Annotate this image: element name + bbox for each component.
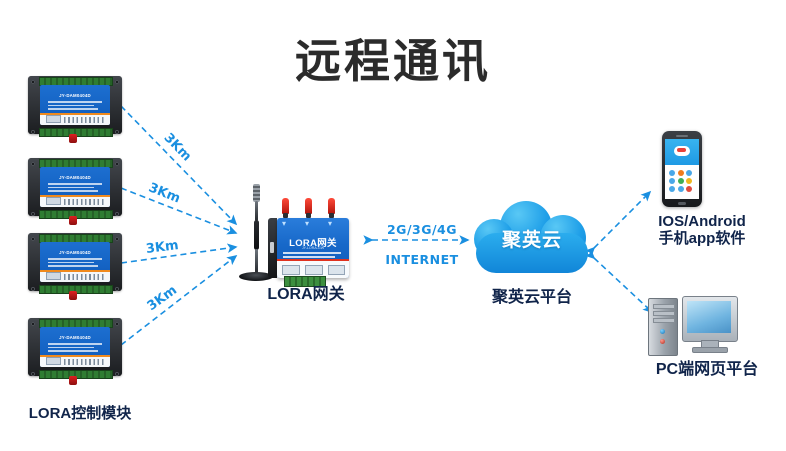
app-cloud-logo-icon bbox=[674, 146, 690, 156]
module-screw bbox=[115, 162, 119, 166]
phone-home-button[interactable] bbox=[678, 202, 686, 205]
module-power-cap bbox=[69, 376, 77, 385]
app-header bbox=[665, 139, 699, 165]
module-panel bbox=[40, 357, 110, 367]
module-screw bbox=[31, 130, 35, 134]
lora-gateway[interactable]: ▾ ▾ ▾ LORA网关 JY-LORA-GW bbox=[268, 198, 350, 280]
smartphone[interactable] bbox=[662, 131, 702, 207]
module-power-cap bbox=[69, 134, 77, 143]
app-icon bbox=[678, 170, 684, 176]
gateway-port-usb bbox=[328, 265, 345, 275]
module-model-label: JY-DAM0404D bbox=[40, 250, 110, 255]
module-panel bbox=[40, 197, 110, 207]
module-screw bbox=[115, 287, 119, 291]
module-indicators bbox=[64, 199, 106, 205]
app-icon-grid bbox=[668, 169, 696, 193]
lora-module-4[interactable]: JY-DAM0404D bbox=[28, 318, 122, 380]
link-module4-gateway bbox=[121, 256, 236, 345]
module-screw bbox=[31, 287, 35, 291]
cloud-caption: 聚英云平台 bbox=[462, 288, 602, 308]
module-indicators bbox=[64, 359, 106, 365]
module-screw bbox=[115, 130, 119, 134]
module-power-cap bbox=[69, 291, 77, 300]
module-lcd bbox=[46, 197, 61, 205]
module-faceplate: JY-DAM0404D bbox=[40, 242, 110, 282]
distance-label-1: 3Km bbox=[161, 131, 194, 165]
gateway-body: ▾ ▾ ▾ LORA网关 JY-LORA-GW bbox=[277, 218, 349, 278]
module-lcd bbox=[46, 357, 61, 365]
gateway-antenna-1 bbox=[282, 198, 289, 214]
module-screw bbox=[115, 322, 119, 326]
module-spec-lines bbox=[48, 258, 102, 269]
module-power-cap bbox=[69, 216, 77, 225]
pc-screen bbox=[687, 301, 731, 333]
module-indicators bbox=[64, 274, 106, 280]
wifi-icon: ▾ bbox=[328, 219, 332, 228]
link-module1-gateway bbox=[121, 106, 236, 224]
module-spec-lines bbox=[48, 343, 102, 354]
app-icon bbox=[669, 170, 675, 176]
app-icon bbox=[669, 186, 675, 192]
gateway-antenna-3 bbox=[328, 198, 335, 214]
module-faceplate: JY-DAM0404D bbox=[40, 327, 110, 367]
module-panel bbox=[40, 115, 110, 125]
app-icon bbox=[678, 178, 684, 184]
module-lcd bbox=[46, 272, 61, 280]
module-faceplate: JY-DAM0404D bbox=[40, 167, 110, 207]
link-cloud-pc bbox=[594, 258, 652, 312]
diagram-canvas: 远程通讯 3Km 3Km 3Km 3Km 2G/3G/4G INTERNET bbox=[0, 0, 786, 451]
app-icon bbox=[678, 186, 684, 192]
gateway-model-sub: JY-LORA-GW bbox=[277, 246, 349, 250]
module-model-label: JY-DAM0404D bbox=[40, 175, 110, 180]
gateway-side-panel bbox=[268, 218, 277, 278]
phone-caption-line2: 手机app软件 bbox=[622, 230, 782, 249]
wifi-icon: ▾ bbox=[282, 219, 286, 228]
module-screw bbox=[31, 212, 35, 216]
gateway-port-sim bbox=[282, 265, 300, 275]
pc-drive-bay bbox=[653, 318, 675, 323]
module-screw bbox=[115, 80, 119, 84]
antenna-rod bbox=[255, 249, 258, 273]
lora-module-1[interactable]: JY-DAM0404D bbox=[28, 76, 122, 138]
pc-monitor-foot bbox=[692, 347, 728, 353]
antenna-grip bbox=[254, 220, 259, 250]
app-icon bbox=[686, 178, 692, 184]
module-model-label: JY-DAM0404D bbox=[40, 335, 110, 340]
app-icon bbox=[686, 186, 692, 192]
distance-label-3: 3Km bbox=[145, 238, 179, 257]
module-spec-lines bbox=[48, 101, 102, 112]
module-screw bbox=[31, 237, 35, 241]
module-indicators bbox=[64, 117, 106, 123]
module-faceplate: JY-DAM0404D bbox=[40, 85, 110, 125]
module-screw bbox=[115, 372, 119, 376]
module-model-label: JY-DAM0404D bbox=[40, 93, 110, 98]
phone-caption-line1: IOS/Android bbox=[622, 213, 782, 232]
module-screw bbox=[31, 372, 35, 376]
phone-speaker bbox=[676, 135, 688, 137]
lora-module-3[interactable]: JY-DAM0404D bbox=[28, 233, 122, 295]
module-screw bbox=[31, 80, 35, 84]
pc-monitor bbox=[682, 296, 738, 342]
pc-drive-bay bbox=[653, 304, 675, 309]
app-icon bbox=[686, 170, 692, 176]
pc-status-led bbox=[660, 339, 665, 344]
module-screw bbox=[115, 212, 119, 216]
lora-modules-caption: LORA控制模块 bbox=[10, 405, 150, 424]
cloud-name-label: 聚英云 bbox=[474, 225, 590, 252]
wifi-icon: ▾ bbox=[305, 219, 309, 228]
network-internet-label: INTERNET bbox=[376, 252, 468, 267]
app-icon bbox=[669, 178, 675, 184]
gateway-port-lan bbox=[305, 265, 323, 275]
gateway-caption: LORA网关 bbox=[236, 285, 376, 305]
pc-tower bbox=[648, 298, 678, 356]
module-panel bbox=[40, 272, 110, 282]
module-screw bbox=[115, 237, 119, 241]
module-screw bbox=[31, 162, 35, 166]
phone-screen bbox=[665, 139, 699, 199]
module-lcd bbox=[46, 115, 61, 123]
network-type-label: 2G/3G/4G bbox=[376, 222, 468, 237]
module-screw bbox=[31, 322, 35, 326]
gateway-antenna-2 bbox=[305, 198, 312, 214]
phone-body bbox=[662, 131, 702, 207]
module-spec-lines bbox=[48, 183, 102, 194]
cloud-platform[interactable]: 聚英云 bbox=[474, 201, 590, 273]
pc-caption: PC端网页平台 bbox=[632, 360, 782, 380]
lora-module-2[interactable]: JY-DAM0404D bbox=[28, 158, 122, 220]
distance-label-4: 3Km bbox=[145, 283, 180, 314]
desktop-computer[interactable] bbox=[648, 296, 760, 360]
pc-drive-bay bbox=[653, 311, 675, 316]
antenna-rod bbox=[255, 201, 258, 221]
distance-label-2: 3Km bbox=[146, 180, 182, 206]
pc-power-led bbox=[660, 329, 665, 334]
antenna-tip bbox=[253, 184, 260, 202]
